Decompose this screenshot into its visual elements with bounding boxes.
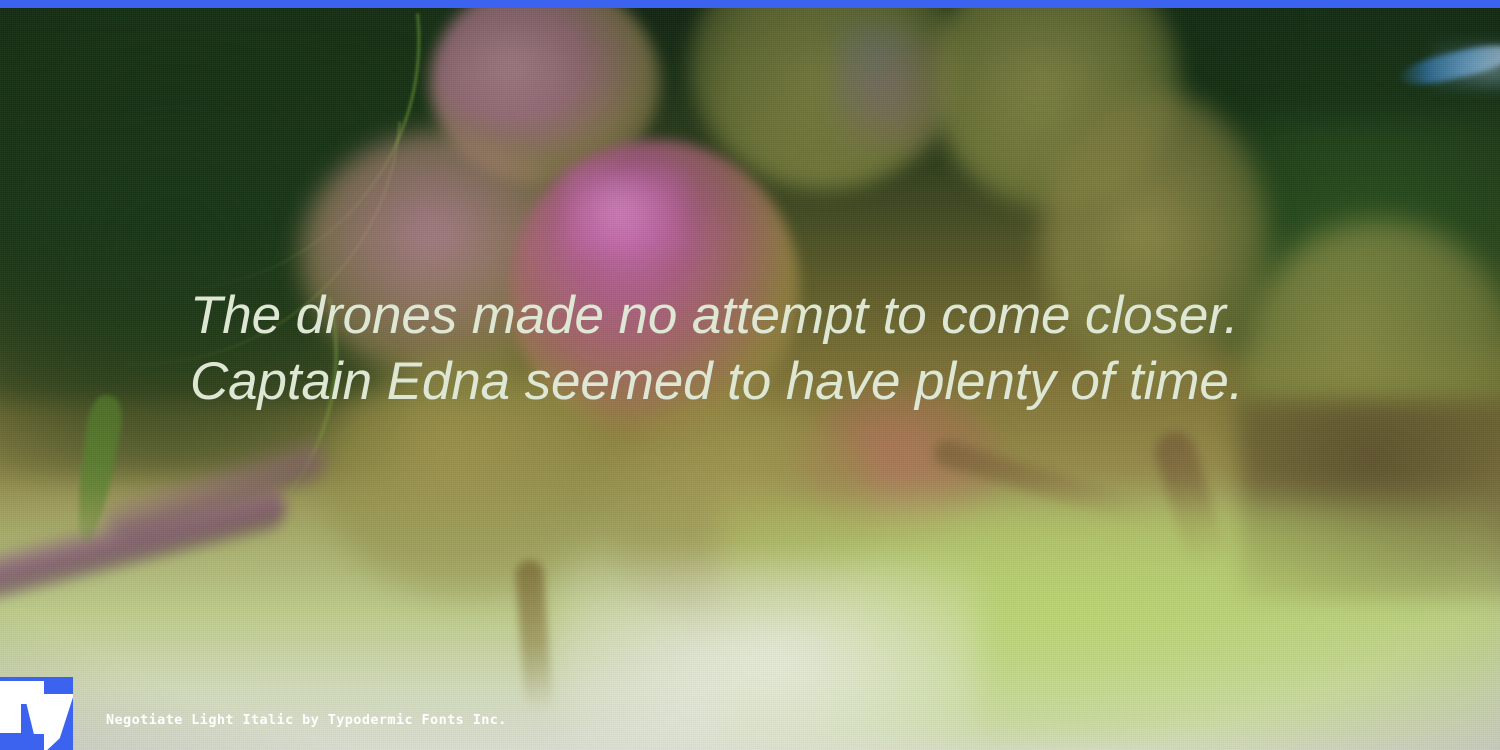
typodermic-ty-logo[interactable] [0, 677, 73, 750]
logo-t-foot [0, 714, 6, 733]
specimen-line-1: The drones made no attempt to come close… [190, 283, 1370, 349]
logo-y-left-arm [24, 694, 46, 734]
specimen-text-block: The drones made no attempt to come close… [190, 283, 1370, 415]
top-accent-bar [0, 0, 1500, 8]
specimen-line-2: Captain Edna seemed to have plenty of ti… [190, 349, 1370, 415]
font-credit-caption: Negotiate Light Italic by Typodermic Fon… [106, 712, 507, 728]
font-specimen-banner: The drones made no attempt to come close… [0, 0, 1500, 750]
